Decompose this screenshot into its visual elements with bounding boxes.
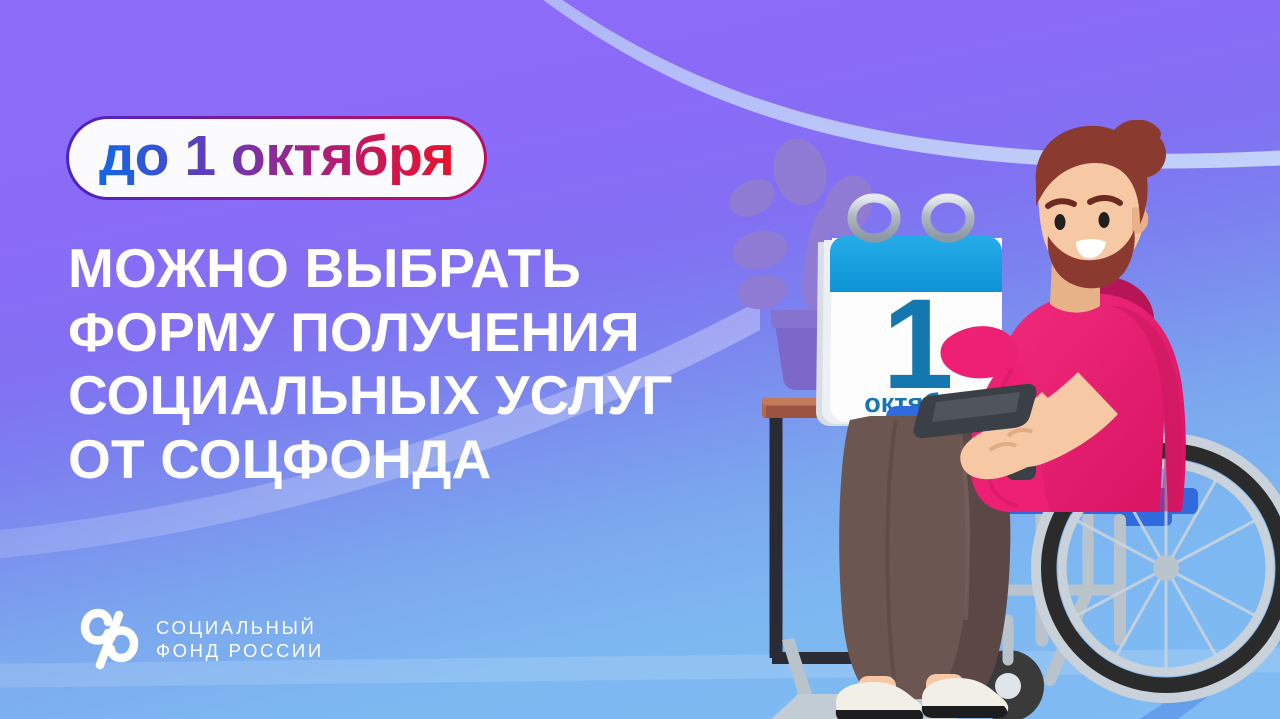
deadline-badge-inner: до 1 октября [69,119,484,197]
sfr-logo-line-1: Социальный [156,616,324,639]
headline-line-2: ФОРМУ ПОЛУЧЕНИЯ [68,301,673,365]
illustration: 1 октября [690,120,1280,719]
headline-line-4: ОТ СОЦФОНДА [68,428,673,492]
deadline-badge-label: до 1 октября [99,128,454,185]
headline-line-3: СОЦИАЛЬНЫХ УСЛУГ [68,364,673,428]
banner-root: 1 октября [0,0,1280,719]
headline-line-1: МОЖНО ВЫБРАТЬ [68,237,673,301]
sfr-logo-text: Социальный Фонд России [156,616,324,663]
sfr-logo: Социальный Фонд России [78,608,324,670]
deadline-badge: до 1 октября [66,116,487,200]
sfr-monogram-icon [78,608,140,670]
page-title: МОЖНО ВЫБРАТЬ ФОРМУ ПОЛУЧЕНИЯ СОЦИАЛЬНЫХ… [68,237,673,491]
sfr-logo-line-2: Фонд России [156,639,324,662]
